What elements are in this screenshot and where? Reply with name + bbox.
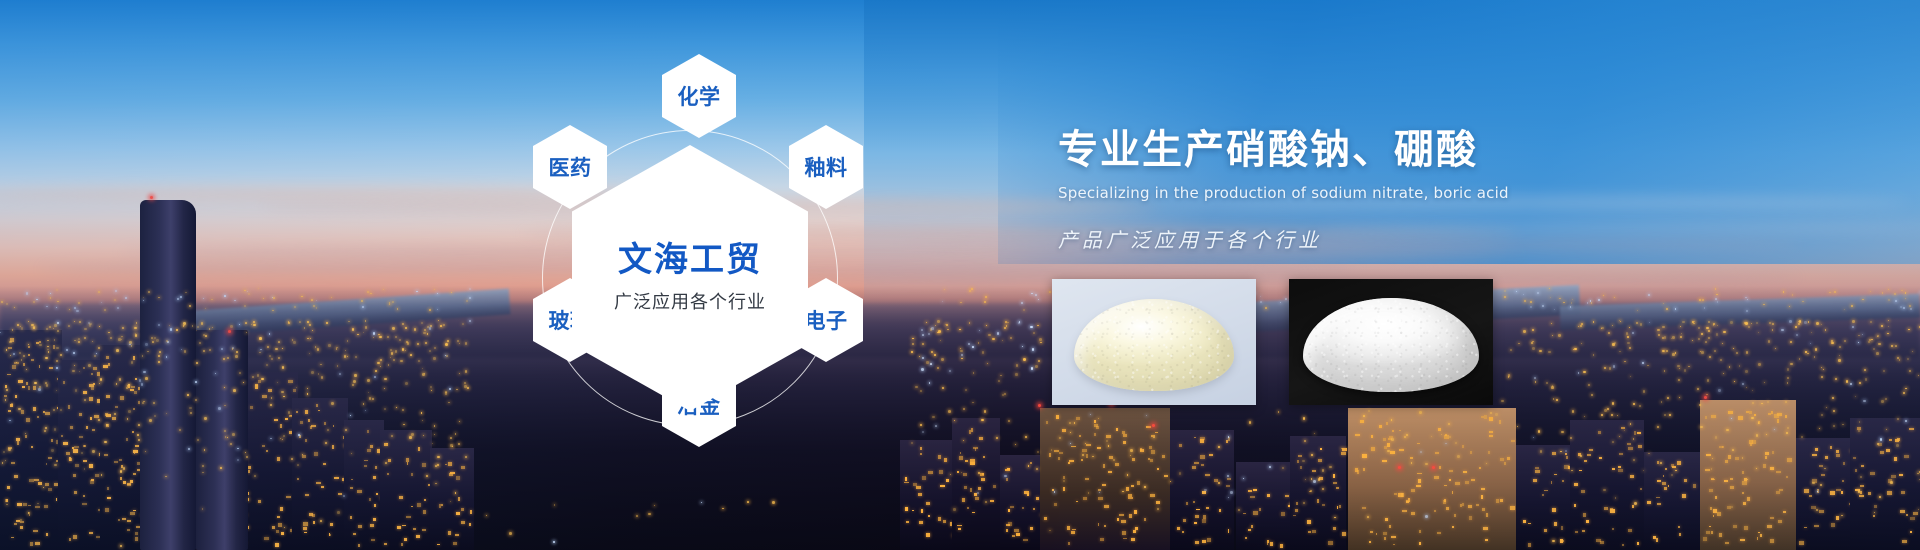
window-light	[46, 533, 48, 537]
window-light	[262, 445, 265, 447]
city-light	[1748, 326, 1750, 328]
building	[1700, 400, 1796, 550]
window-light	[1033, 508, 1035, 510]
window-light	[1470, 451, 1473, 454]
copy-block: 专业生产硝酸钠、硼酸 Specializing in the productio…	[1058, 128, 1618, 253]
city-light	[1486, 463, 1487, 464]
window-light	[1245, 537, 1247, 539]
city-light	[391, 352, 394, 355]
window-light	[1339, 505, 1341, 508]
city-light	[209, 328, 210, 329]
city-light	[228, 330, 231, 333]
city-light	[1808, 321, 1809, 322]
window-light	[1763, 464, 1766, 467]
window-light	[1454, 514, 1457, 517]
window-light	[1267, 494, 1270, 497]
window-light	[1179, 444, 1182, 447]
window-light	[1859, 495, 1864, 497]
city-light	[370, 293, 371, 294]
window-light	[1488, 451, 1490, 454]
window-light	[1203, 515, 1206, 518]
window-light	[1587, 454, 1591, 456]
window-light	[1192, 466, 1196, 470]
window-light	[1393, 544, 1395, 546]
window-light	[277, 457, 280, 460]
window-light	[316, 404, 318, 407]
window-light	[1715, 496, 1717, 500]
window-light	[1387, 443, 1390, 447]
powder-grain-texture	[1303, 298, 1479, 392]
city-light	[1834, 291, 1836, 293]
city-light	[245, 322, 247, 324]
window-light	[1371, 447, 1376, 451]
window-light	[1706, 454, 1711, 456]
window-light	[964, 486, 966, 489]
window-light	[89, 464, 93, 468]
window-light	[1891, 475, 1896, 477]
window-light	[1672, 466, 1675, 469]
window-light	[133, 356, 136, 360]
building	[380, 430, 432, 550]
window-light	[1468, 505, 1471, 508]
window-light	[1809, 495, 1812, 497]
window-light	[1195, 541, 1199, 545]
city-light	[1704, 396, 1707, 399]
city-light	[1708, 321, 1710, 323]
window-light	[1894, 457, 1897, 460]
city-light	[1733, 348, 1734, 349]
window-light	[1485, 539, 1488, 541]
city-light	[120, 470, 122, 472]
window-light	[979, 437, 983, 440]
city-light	[395, 350, 397, 352]
window-light	[1668, 485, 1670, 487]
window-light	[963, 473, 967, 476]
window-light	[1656, 538, 1658, 542]
window-light	[20, 521, 24, 523]
city-light	[45, 382, 47, 384]
city-light	[68, 325, 70, 327]
city-light	[1127, 474, 1128, 475]
city-light	[354, 374, 356, 376]
window-light	[1122, 531, 1126, 535]
window-light	[310, 426, 313, 429]
window-light	[388, 459, 391, 462]
window-light	[1100, 538, 1104, 541]
city-light	[1756, 434, 1758, 436]
city-light	[326, 322, 328, 324]
city-light	[176, 329, 177, 330]
window-light	[33, 530, 38, 533]
city-light	[1895, 300, 1897, 302]
window-light	[8, 347, 12, 349]
city-light	[1448, 423, 1450, 425]
window-light	[303, 527, 307, 530]
city-light	[99, 383, 100, 384]
city-light	[1682, 321, 1684, 323]
window-light	[1023, 539, 1028, 541]
window-light	[1836, 516, 1840, 519]
window-light	[1030, 462, 1032, 465]
window-light	[1489, 431, 1494, 434]
window-light	[323, 463, 326, 465]
window-light	[1874, 505, 1877, 509]
city-light	[1558, 334, 1560, 336]
city-light	[6, 389, 8, 391]
city-light	[1666, 350, 1668, 352]
window-light	[5, 385, 7, 388]
window-light	[1390, 451, 1395, 454]
window-light	[1132, 458, 1135, 461]
city-light	[202, 472, 204, 474]
window-light	[406, 516, 411, 518]
city-light	[1054, 491, 1056, 493]
city-light	[260, 349, 262, 351]
window-light	[255, 384, 258, 386]
city-light	[204, 417, 207, 420]
window-light	[1776, 471, 1781, 474]
product-photo-sodium-nitrate[interactable]	[1052, 279, 1256, 405]
city-light	[1334, 517, 1335, 518]
window-light	[1664, 487, 1667, 490]
city-light	[1432, 466, 1435, 469]
window-light	[1069, 460, 1073, 463]
window-light	[1096, 426, 1099, 429]
city-light	[114, 299, 116, 301]
city-light	[135, 334, 138, 337]
window-light	[281, 532, 284, 534]
window-light	[401, 543, 403, 546]
product-photo-boric-acid[interactable]	[1289, 279, 1493, 405]
window-light	[104, 454, 108, 457]
city-light	[1718, 389, 1720, 391]
window-light	[1355, 468, 1359, 471]
window-light	[1202, 491, 1205, 495]
city-light	[183, 322, 186, 325]
city-light	[293, 341, 296, 344]
window-light	[83, 367, 85, 369]
window-light	[1312, 470, 1316, 472]
window-light	[23, 503, 27, 506]
window-light	[1510, 506, 1515, 510]
window-light	[1201, 464, 1204, 466]
window-light	[258, 380, 262, 383]
window-light	[1682, 494, 1686, 498]
window-light	[1711, 415, 1716, 418]
window-light	[1416, 485, 1421, 487]
window-light	[75, 464, 79, 467]
window-light	[1799, 541, 1804, 544]
city-light	[369, 397, 371, 399]
window-light	[94, 415, 98, 418]
window-light	[1804, 489, 1809, 493]
window-light	[285, 418, 287, 420]
city-light	[1891, 345, 1893, 347]
tagline: 产品广泛应用于各个行业	[1058, 224, 1618, 253]
window-light	[1481, 488, 1485, 490]
window-light	[37, 416, 39, 418]
window-light	[1622, 544, 1624, 546]
window-light	[21, 410, 25, 414]
window-light	[275, 543, 279, 547]
city-light	[76, 310, 78, 312]
window-light	[1860, 491, 1862, 494]
window-light	[11, 537, 14, 539]
city-light	[363, 332, 364, 333]
window-light	[1749, 411, 1752, 414]
city-light	[1630, 423, 1631, 424]
window-light	[1219, 509, 1222, 512]
window-light	[1742, 492, 1744, 494]
city-light	[362, 306, 364, 308]
window-light	[28, 386, 30, 389]
city-light	[984, 301, 986, 303]
window-light	[22, 386, 25, 389]
city-light	[277, 382, 278, 383]
window-light	[967, 507, 969, 509]
window-light	[123, 481, 127, 484]
city-light	[1088, 492, 1090, 494]
window-light	[1300, 466, 1302, 469]
window-light	[1307, 520, 1310, 524]
window-light	[983, 456, 985, 458]
window-light	[82, 503, 87, 506]
city-light	[313, 305, 315, 307]
window-light	[1744, 526, 1748, 530]
city-light	[1666, 308, 1667, 309]
city-light	[309, 324, 311, 326]
window-light	[1253, 511, 1258, 514]
window-light	[133, 510, 136, 512]
window-light	[351, 479, 353, 481]
window-light	[1437, 532, 1441, 535]
window-light	[1333, 482, 1337, 484]
city-light	[6, 303, 8, 305]
window-light	[1897, 438, 1900, 441]
window-light	[262, 395, 266, 399]
window-light	[72, 447, 74, 449]
city-light	[1404, 436, 1406, 438]
window-light	[1757, 537, 1759, 541]
window-light	[1228, 529, 1230, 533]
city-light	[1684, 369, 1686, 371]
hex-node-electronics-label: 电子	[805, 305, 848, 335]
window-light	[1812, 454, 1817, 456]
window-light	[1402, 510, 1407, 512]
city-light	[1501, 400, 1503, 402]
city-light	[47, 349, 48, 350]
powder-pile-white	[1303, 298, 1479, 392]
window-light	[1752, 440, 1755, 444]
window-light	[1489, 417, 1493, 421]
city-light	[1787, 427, 1789, 429]
window-light	[1044, 517, 1047, 520]
window-light	[268, 389, 272, 391]
window-light	[1735, 457, 1739, 460]
city-light	[997, 332, 1000, 335]
city-light	[1070, 432, 1071, 433]
city-light	[1038, 360, 1040, 362]
window-light	[274, 419, 278, 421]
building	[1516, 445, 1574, 550]
window-light	[1072, 529, 1076, 531]
window-light	[1146, 426, 1151, 428]
window-light	[1910, 531, 1912, 534]
window-light	[1008, 509, 1010, 512]
window-light	[1471, 479, 1475, 481]
window-light	[407, 462, 409, 465]
window-light	[1771, 411, 1773, 414]
city-light	[121, 339, 122, 340]
window-light	[31, 446, 33, 448]
window-light	[305, 410, 308, 414]
window-light	[1281, 512, 1285, 516]
city-light	[1059, 437, 1061, 439]
city-light	[1732, 449, 1734, 451]
building	[1040, 408, 1170, 550]
window-light	[971, 428, 974, 432]
window-light	[1027, 493, 1029, 497]
city-light	[141, 383, 143, 385]
city-light	[1783, 291, 1784, 292]
window-light	[83, 460, 87, 462]
window-light	[1637, 542, 1640, 544]
window-light	[321, 486, 324, 488]
window-light	[1108, 471, 1112, 474]
window-light	[1418, 479, 1421, 483]
window-light	[1333, 474, 1335, 478]
window-light	[375, 466, 377, 469]
city-light	[94, 355, 95, 356]
window-light	[1156, 501, 1160, 504]
window-light	[1253, 489, 1258, 491]
window-light	[73, 449, 78, 453]
window-light	[95, 474, 98, 477]
window-light	[14, 475, 17, 478]
city-light	[411, 433, 413, 435]
window-light	[1528, 543, 1531, 547]
window-light	[1209, 454, 1213, 456]
window-light	[316, 482, 321, 484]
window-light	[305, 494, 309, 496]
city-light	[233, 389, 236, 392]
window-light	[332, 445, 334, 448]
window-light	[1434, 510, 1437, 512]
city-light	[380, 366, 381, 367]
city-light	[1680, 336, 1682, 338]
window-light	[411, 506, 413, 508]
window-light	[1106, 435, 1111, 438]
city-light	[288, 411, 291, 414]
building	[0, 330, 62, 550]
window-light	[1770, 539, 1774, 543]
window-light	[56, 498, 58, 501]
window-light	[296, 411, 298, 413]
city-light	[1032, 348, 1034, 350]
city-light	[291, 458, 293, 460]
window-light	[1392, 430, 1394, 432]
window-light	[1014, 529, 1019, 532]
window-light	[453, 542, 457, 546]
product-photo-row	[1052, 279, 1493, 405]
window-light	[364, 460, 368, 462]
city-light	[1667, 397, 1669, 399]
window-light	[92, 429, 94, 431]
window-light	[1564, 465, 1569, 469]
city-light	[1860, 476, 1861, 477]
city-light	[1814, 356, 1815, 357]
window-light	[1006, 529, 1008, 532]
window-light	[1449, 470, 1452, 473]
window-light	[1887, 491, 1892, 495]
window-light	[1137, 481, 1140, 485]
window-light	[1511, 440, 1515, 442]
window-light	[44, 505, 48, 509]
city-light	[1842, 424, 1843, 425]
window-light	[1063, 476, 1065, 479]
window-light	[1117, 518, 1119, 520]
city-light	[1821, 324, 1822, 325]
window-light	[1544, 490, 1548, 492]
window-light	[1709, 526, 1712, 528]
city-light	[312, 330, 313, 331]
window-light	[1886, 449, 1890, 452]
window-light	[1126, 487, 1129, 490]
window-light	[978, 487, 981, 490]
window-light	[367, 430, 370, 433]
city-light	[138, 439, 140, 441]
city-light	[131, 361, 133, 363]
window-light	[1552, 452, 1556, 455]
window-light	[1104, 505, 1108, 508]
city-light	[1839, 346, 1841, 348]
window-light	[313, 521, 316, 524]
city-light	[328, 344, 330, 346]
window-light	[248, 466, 251, 468]
window-light	[1830, 491, 1835, 495]
city-light	[1455, 442, 1457, 444]
city-light	[1573, 349, 1574, 350]
window-light	[1785, 415, 1787, 418]
city-light	[74, 321, 75, 322]
window-light	[68, 405, 70, 408]
hex-node-chemical[interactable]: 化学	[662, 54, 736, 138]
window-light	[1226, 485, 1230, 487]
city-light	[422, 368, 423, 369]
city-light	[1678, 379, 1680, 381]
city-light	[1752, 390, 1753, 391]
city-light	[1734, 381, 1735, 382]
window-light	[350, 516, 352, 519]
city-light	[1868, 341, 1869, 342]
window-light	[90, 417, 92, 419]
city-light	[1852, 320, 1855, 323]
window-light	[1116, 428, 1118, 431]
city-light	[1425, 463, 1427, 465]
window-light	[1630, 475, 1635, 478]
window-light	[89, 397, 94, 400]
city-light	[1660, 462, 1662, 464]
city-light	[138, 424, 140, 426]
window-light	[402, 525, 406, 527]
city-light	[1781, 329, 1783, 331]
window-light	[1417, 473, 1422, 475]
window-light	[126, 438, 128, 441]
window-light	[1906, 514, 1908, 517]
window-light	[1738, 416, 1743, 420]
window-light	[106, 395, 110, 398]
window-light	[1200, 439, 1203, 443]
